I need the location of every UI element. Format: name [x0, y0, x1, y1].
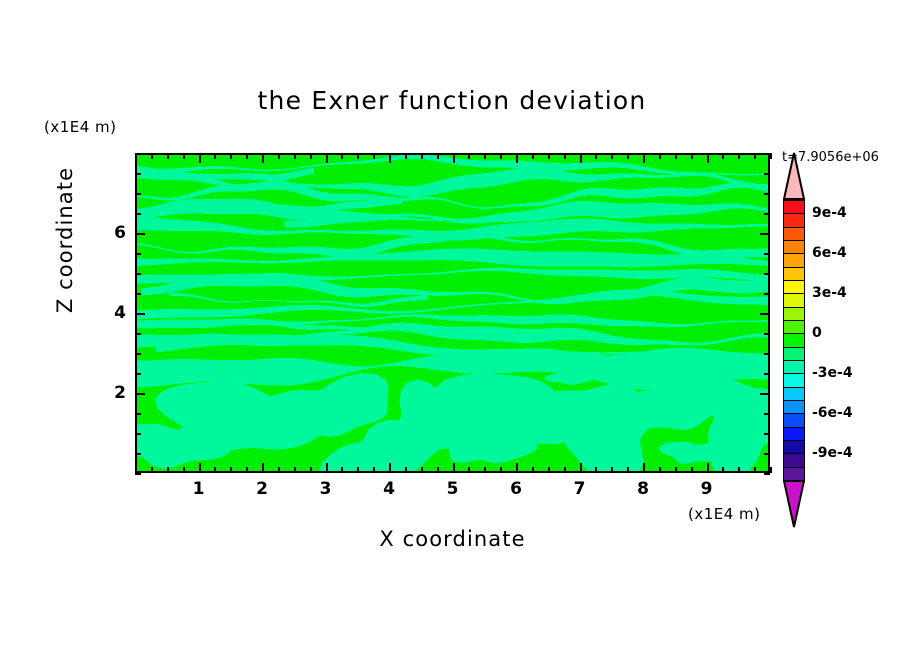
axis-tick [764, 333, 770, 335]
colorbar-band [783, 280, 805, 294]
x-tick-label: 4 [383, 479, 395, 499]
axis-tick [135, 313, 145, 315]
chart-title: the Exner function deviation [0, 86, 904, 115]
axis-tick [500, 153, 502, 159]
axis-tick [532, 153, 534, 159]
axis-tick [516, 153, 518, 163]
axis-tick [389, 153, 391, 163]
axis-tick [754, 467, 756, 473]
colorbar [783, 200, 805, 520]
axis-tick [214, 467, 216, 473]
colorbar-band [783, 373, 805, 387]
colorbar-band [783, 293, 805, 307]
axis-tick [580, 153, 582, 163]
axis-tick [230, 467, 232, 473]
axis-tick [564, 153, 566, 159]
colorbar-band [783, 453, 805, 467]
axis-tick [764, 273, 770, 275]
axis-tick [262, 463, 264, 473]
colorbar-band [783, 413, 805, 427]
x-tick-label: 9 [701, 479, 713, 499]
axis-tick [405, 467, 407, 473]
y-axis-title: Z coordinate [53, 150, 77, 330]
colorbar-tick-label: -9e-4 [812, 445, 853, 461]
axis-tick [135, 253, 141, 255]
x-tick-label: 5 [447, 479, 459, 499]
axis-tick [310, 153, 312, 159]
axis-tick [707, 153, 709, 163]
axis-tick [691, 153, 693, 159]
axis-tick [135, 193, 141, 195]
axis-tick [643, 153, 645, 163]
axis-tick [564, 467, 566, 473]
axis-tick [484, 153, 486, 159]
axis-tick [764, 473, 770, 475]
y-tick-label: 4 [106, 303, 126, 323]
axis-tick [760, 313, 770, 315]
axis-tick [764, 153, 770, 155]
axis-tick [135, 233, 145, 235]
axis-tick [373, 153, 375, 159]
x-tick-label: 3 [320, 479, 332, 499]
colorbar-band [783, 227, 805, 241]
axis-tick [357, 467, 359, 473]
axis-tick [326, 463, 328, 473]
axis-tick [468, 467, 470, 473]
x-tick-label: 2 [256, 479, 268, 499]
x-axis-title: X coordinate [135, 527, 770, 551]
x-tick-label: 6 [510, 479, 522, 499]
axis-tick [595, 153, 597, 159]
x-axis-unit-label: (x1E4 m) [688, 505, 761, 523]
axis-tick [135, 293, 141, 295]
axis-tick [627, 467, 629, 473]
axis-tick [230, 153, 232, 159]
axis-tick [595, 467, 597, 473]
colorbar-band [783, 213, 805, 227]
axis-tick [484, 467, 486, 473]
axis-tick [214, 153, 216, 159]
axis-tick [760, 393, 770, 395]
axis-tick [611, 153, 613, 159]
axis-tick [294, 153, 296, 159]
y-tick-label: 2 [106, 383, 126, 403]
colorbar-band [783, 253, 805, 267]
colorbar-tick-label: -6e-4 [812, 405, 853, 421]
axis-tick [754, 153, 756, 159]
axis-tick [548, 467, 550, 473]
axis-tick [135, 173, 141, 175]
axis-tick [405, 153, 407, 159]
colorbar-band [783, 320, 805, 334]
colorbar-band [783, 307, 805, 321]
axis-tick [135, 353, 141, 355]
axis-tick [770, 467, 772, 473]
colorbar-tick-label: 6e-4 [812, 245, 847, 261]
axis-tick [183, 153, 185, 159]
axis-tick [468, 153, 470, 159]
axis-tick [246, 153, 248, 159]
colorbar-cap-top [783, 152, 805, 200]
colorbar-band [783, 347, 805, 361]
y-axis-unit-label: (x1E4 m) [44, 118, 117, 136]
x-tick-label: 1 [193, 479, 205, 499]
axis-tick [722, 467, 724, 473]
plot-canvas: the Exner function deviation (x1E4 m) (x… [0, 0, 904, 654]
axis-tick [199, 463, 201, 473]
axis-tick [135, 453, 141, 455]
axis-tick [246, 467, 248, 473]
axis-tick [659, 467, 661, 473]
axis-tick [135, 213, 141, 215]
contour-field [137, 155, 768, 471]
axis-tick [548, 153, 550, 159]
axis-tick [135, 393, 145, 395]
colorbar-band [783, 333, 805, 347]
contour-plot-area [135, 153, 770, 473]
axis-tick [167, 467, 169, 473]
axis-tick [738, 467, 740, 473]
axis-tick [738, 153, 740, 159]
axis-tick [437, 153, 439, 159]
axis-tick [135, 473, 141, 475]
axis-tick [453, 463, 455, 473]
axis-tick [516, 463, 518, 473]
axis-tick [151, 467, 153, 473]
axis-tick [135, 413, 141, 415]
axis-tick [135, 273, 141, 275]
axis-tick [764, 253, 770, 255]
axis-tick [764, 193, 770, 195]
axis-tick [643, 463, 645, 473]
axis-tick [167, 153, 169, 159]
axis-tick [310, 467, 312, 473]
colorbar-band [783, 467, 805, 481]
axis-tick [627, 153, 629, 159]
axis-tick [770, 153, 772, 159]
axis-tick [135, 373, 141, 375]
colorbar-tick-label: 3e-4 [812, 285, 847, 301]
axis-tick [675, 153, 677, 159]
axis-tick [373, 467, 375, 473]
colorbar-tick-label: 0 [812, 325, 822, 341]
axis-tick [278, 153, 280, 159]
axis-tick [764, 413, 770, 415]
axis-tick [357, 153, 359, 159]
axis-tick [675, 467, 677, 473]
axis-tick [278, 467, 280, 473]
x-tick-label: 8 [637, 479, 649, 499]
axis-tick [341, 153, 343, 159]
axis-tick [199, 153, 201, 163]
axis-tick [341, 467, 343, 473]
axis-tick [262, 153, 264, 163]
axis-tick [764, 213, 770, 215]
x-tick-label: 7 [574, 479, 586, 499]
axis-tick [691, 467, 693, 473]
axis-tick [151, 153, 153, 159]
axis-tick [532, 467, 534, 473]
axis-tick [135, 333, 141, 335]
axis-tick [611, 467, 613, 473]
colorbar-tick-label: 9e-4 [812, 205, 847, 221]
axis-tick [764, 433, 770, 435]
colorbar-band [783, 387, 805, 401]
axis-tick [421, 153, 423, 159]
axis-tick [500, 467, 502, 473]
axis-tick [722, 153, 724, 159]
axis-tick [437, 467, 439, 473]
colorbar-band [783, 240, 805, 254]
axis-tick [389, 463, 391, 473]
axis-tick [580, 463, 582, 473]
axis-tick [764, 453, 770, 455]
colorbar-band [783, 440, 805, 454]
axis-tick [183, 467, 185, 473]
colorbar-band [783, 360, 805, 374]
axis-tick [764, 373, 770, 375]
axis-tick [764, 353, 770, 355]
axis-tick [659, 153, 661, 159]
colorbar-tick-label: -3e-4 [812, 365, 853, 381]
axis-tick [453, 153, 455, 163]
axis-tick [760, 233, 770, 235]
axis-tick [707, 463, 709, 473]
colorbar-band [783, 200, 805, 214]
axis-tick [421, 467, 423, 473]
axis-tick [294, 467, 296, 473]
axis-tick [764, 293, 770, 295]
axis-tick [326, 153, 328, 163]
colorbar-cap-bottom [783, 480, 805, 528]
y-tick-label: 6 [106, 223, 126, 243]
axis-tick [135, 433, 141, 435]
colorbar-band [783, 400, 805, 414]
axis-tick [764, 173, 770, 175]
colorbar-band [783, 427, 805, 441]
axis-tick [135, 153, 141, 155]
colorbar-band [783, 267, 805, 281]
